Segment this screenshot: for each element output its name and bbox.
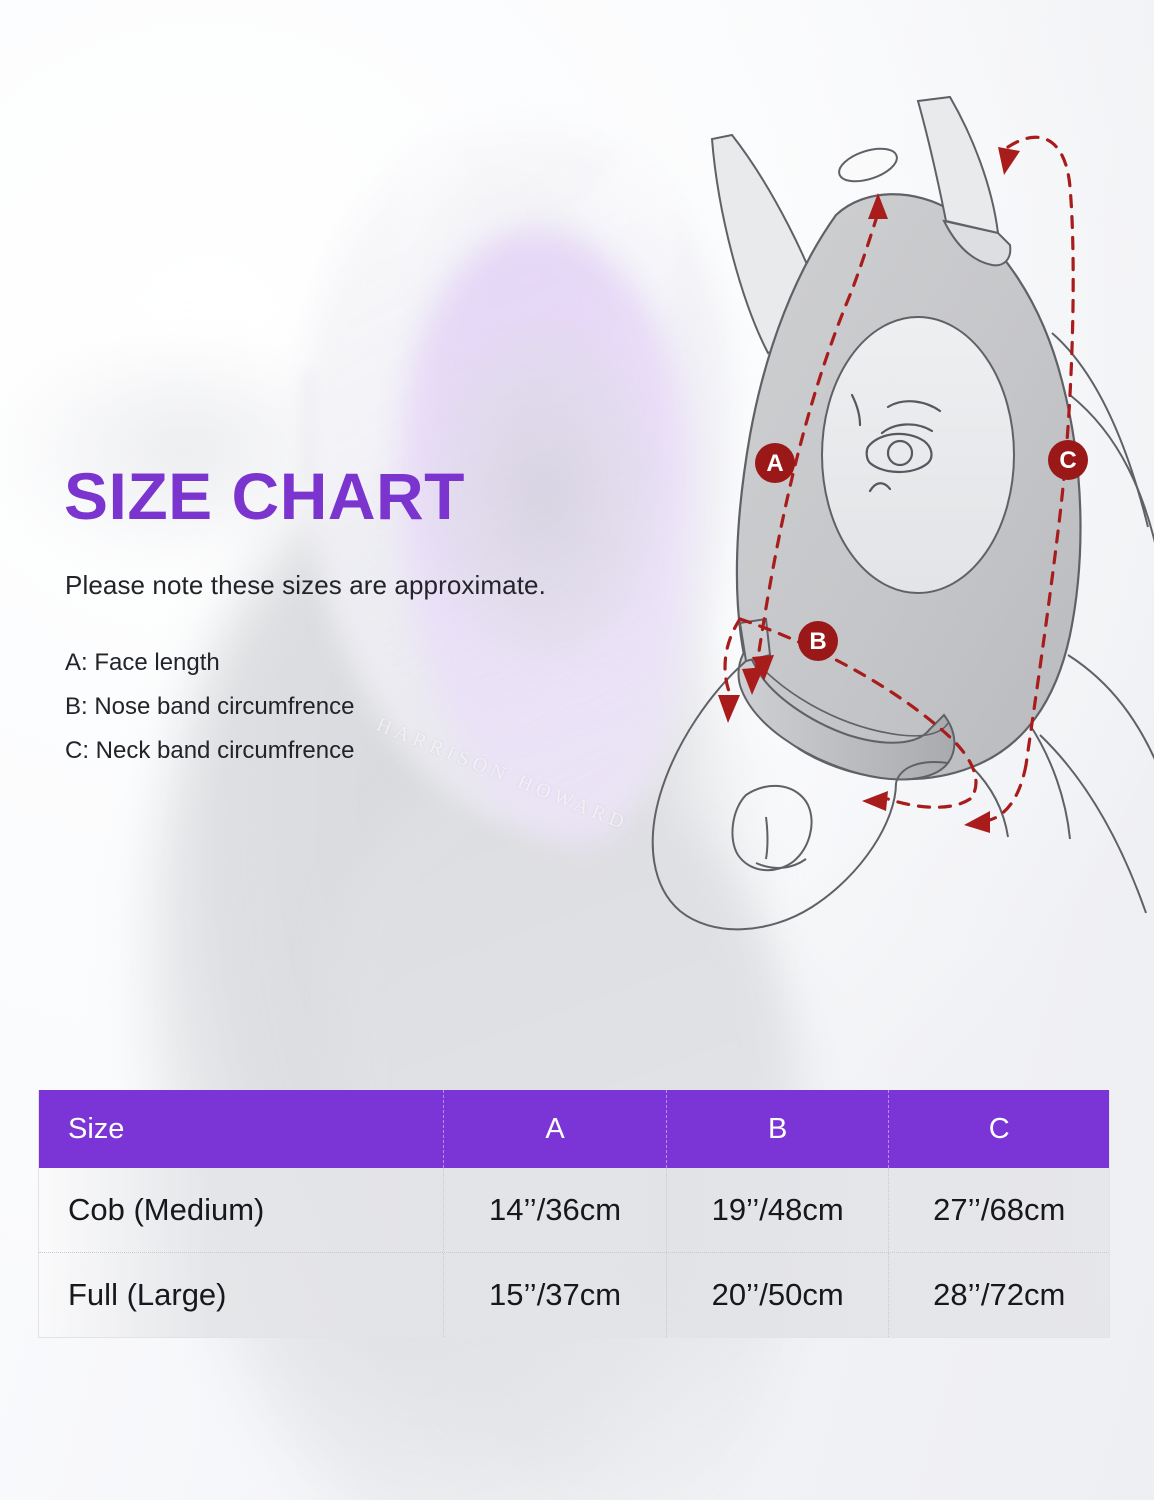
- measurement-arrow-b-left: [718, 695, 740, 723]
- page-subtitle: Please note these sizes are approximate.: [65, 570, 546, 601]
- table-row: Cob (Medium) 14’’/36cm 19’’/48cm 27’’/68…: [39, 1168, 1109, 1253]
- size-table: Size A B C Cob (Medium) 14’’/36cm 19’’/4…: [38, 1090, 1110, 1338]
- column-header-c: C: [889, 1090, 1109, 1168]
- cell-a: 15’’/37cm: [444, 1253, 667, 1337]
- table-header-row: Size A B C: [39, 1090, 1109, 1168]
- measurement-marker-a: A: [755, 443, 795, 483]
- cell-b: 20’’/50cm: [667, 1253, 890, 1337]
- cell-c: 28’’/72cm: [889, 1253, 1109, 1337]
- cell-b: 19’’/48cm: [667, 1168, 890, 1252]
- measurement-marker-b: B: [798, 621, 838, 661]
- table-row: Full (Large) 15’’/37cm 20’’/50cm 28’’/72…: [39, 1253, 1109, 1337]
- legend-item-c: C: Neck band circumfrence: [65, 729, 354, 773]
- svg-text:A: A: [766, 450, 783, 477]
- cell-a: 14’’/36cm: [444, 1168, 667, 1252]
- measurement-marker-c: C: [1048, 440, 1088, 480]
- column-header-b: B: [667, 1090, 890, 1168]
- measurement-legend: A: Face length B: Nose band circumfrence…: [65, 641, 354, 773]
- fly-mask-illustration: A B C: [600, 95, 1154, 995]
- background-blur-ground: [0, 330, 340, 570]
- cell-c: 27’’/68cm: [889, 1168, 1109, 1252]
- svg-text:C: C: [1059, 447, 1076, 474]
- measurement-arrow-c-bottom: [964, 811, 990, 833]
- size-chart-page: HARRISON HOWARD: [0, 0, 1154, 1500]
- page-title: SIZE CHART: [64, 463, 465, 529]
- cell-size: Cob (Medium): [39, 1168, 444, 1252]
- column-header-a: A: [444, 1090, 667, 1168]
- legend-item-b: B: Nose band circumfrence: [65, 685, 354, 729]
- eye-dome: [822, 317, 1014, 593]
- forelock-opening: [835, 142, 901, 187]
- column-header-size: Size: [39, 1090, 444, 1168]
- cell-size: Full (Large): [39, 1253, 444, 1337]
- svg-text:B: B: [809, 628, 826, 655]
- measurement-arrow-c-top: [998, 147, 1020, 175]
- legend-item-a: A: Face length: [65, 641, 354, 685]
- measurement-arrow-b-bottom: [862, 791, 888, 811]
